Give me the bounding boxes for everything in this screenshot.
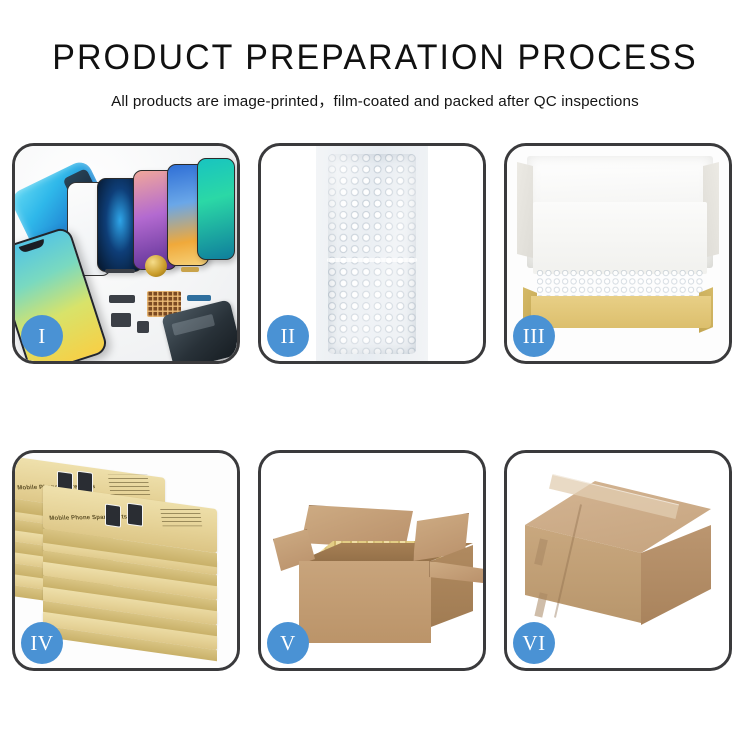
button-part-graphic [181,267,199,272]
process-step-3: III [504,143,732,364]
coil-part-graphic [145,255,167,277]
flex-cable-part-graphic [105,269,135,273]
phone-screen-4-graphic [197,158,235,260]
page-subtitle: All products are image-printed，film-coat… [0,78,750,111]
step-5-image: V [261,453,483,668]
step-3-image: III [507,146,729,361]
carton-front-graphic [299,561,431,643]
process-step-6: VI [504,450,732,671]
page-title: PRODUCT PREPARATION PROCESS [11,0,739,78]
step-4-badge: IV [21,622,63,664]
step-4-image: Mobile Phone Spare Parts Mobile Phone Sp… [15,453,237,668]
box-screen-image-graphic [105,503,121,527]
step-1-badge: I [21,315,63,357]
step-2-image: II [261,146,483,361]
process-step-5: V [258,450,486,671]
wrap-seam-graphic [327,258,417,262]
process-step-4: Mobile Phone Spare Parts Mobile Phone Sp… [12,450,240,671]
speaker-part-graphic [111,313,131,327]
bubble-wrapped-product-graphic [328,154,416,354]
spare-parts-cluster-graphic [103,255,235,359]
box-front-panel-graphic [531,296,711,328]
sensor-part-graphic [137,321,149,333]
process-step-2: II [258,143,486,364]
step-3-badge: III [513,315,555,357]
box-spec-lines-graphic [160,506,202,526]
step-2-badge: II [267,315,309,357]
box-spec-lines-graphic [108,475,150,495]
process-step-1: I [12,143,240,364]
camera-part-graphic [109,295,135,303]
step-1-image: I [15,146,237,361]
foam-sheet-graphic [533,202,707,274]
step-6-badge: VI [513,622,555,664]
step-6-image: VI [507,453,729,668]
connector-part-graphic [187,295,211,301]
process-step-grid: I II III [12,143,738,671]
box-screen-image-graphic [127,503,143,527]
box-lid-left-flap-graphic [517,162,533,258]
step-5-badge: V [267,622,309,664]
page-header: PRODUCT PREPARATION PROCESS All products… [0,0,750,111]
